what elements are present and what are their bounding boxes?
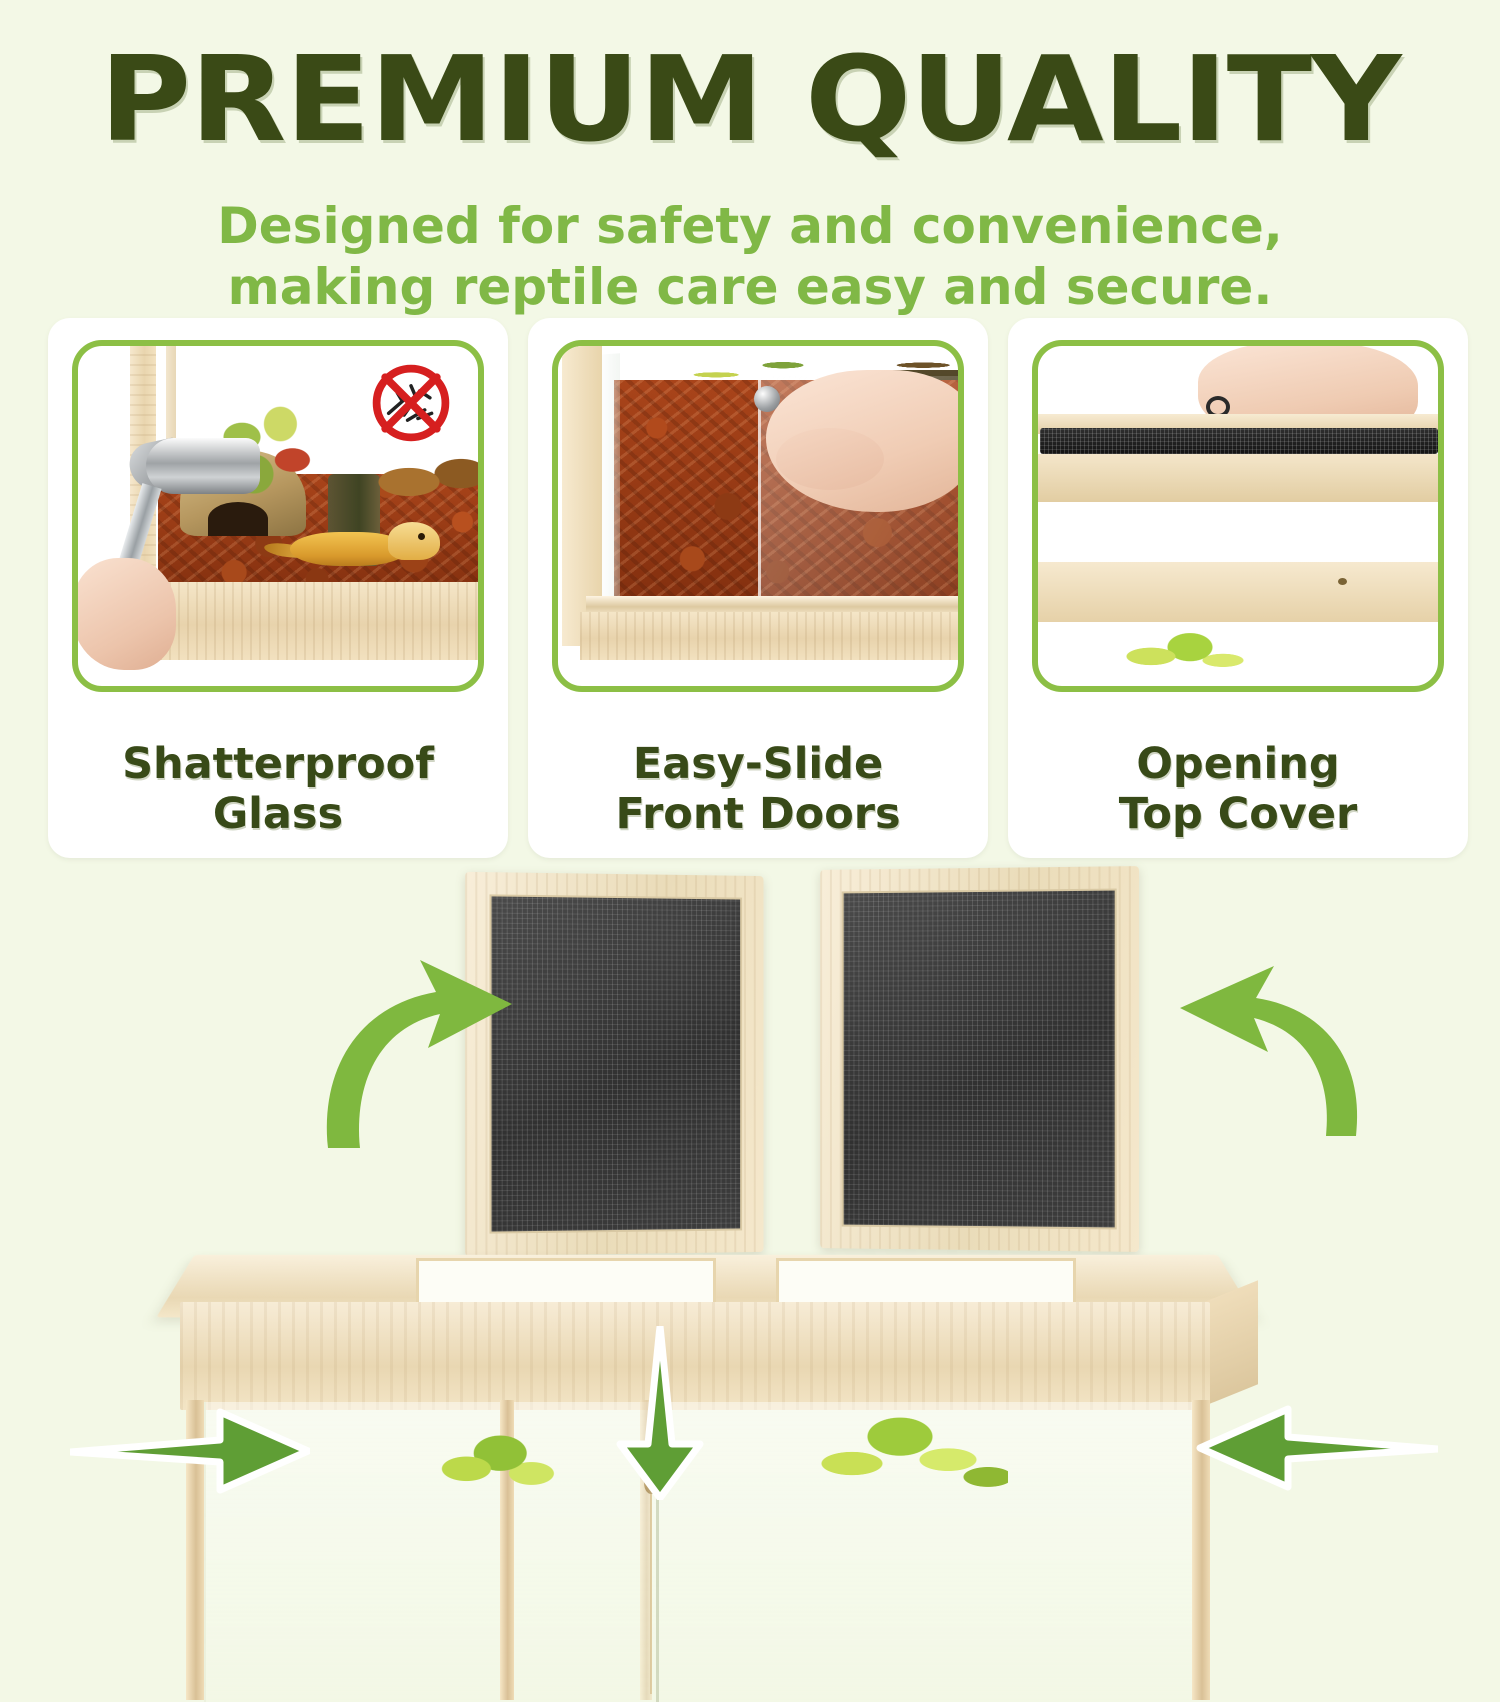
feature-photo-easy-slide-doors (558, 346, 958, 686)
feature-card-easy-slide-front-doors[interactable]: Easy-Slide Front Doors (528, 318, 988, 858)
arrow-right-side (1192, 1404, 1438, 1492)
feature-caption-2-line-2: Front Doors (528, 789, 988, 840)
page-headline: PREMIUM QUALITY (0, 40, 1500, 158)
feature-caption-1: Shatterproof Glass (48, 739, 508, 840)
screw-head (1338, 578, 1347, 585)
arrow-curved-right (1118, 960, 1368, 1140)
decor-plant-bottom-right (808, 1404, 1008, 1500)
feature-caption-1-line-1: Shatterproof (48, 739, 508, 790)
feature-card-shatterproof-glass[interactable]: Shatterproof Glass (48, 318, 508, 858)
mesh-top-cover[interactable] (1040, 428, 1438, 454)
feature-caption-3: Opening Top Cover (1008, 739, 1468, 840)
feature-caption-3-line-2: Top Cover (1008, 789, 1468, 840)
decor-branch (370, 440, 478, 524)
bearded-dragon (264, 518, 444, 582)
left-lid-opening (416, 1258, 716, 1308)
arrow-curved-left (316, 952, 546, 1152)
page-subtitle: Designed for safety and convenience, mak… (0, 196, 1500, 318)
dragon-eye (418, 533, 425, 540)
decor-plant (1112, 630, 1262, 686)
feature-caption-1-line-2: Glass (48, 789, 508, 840)
feature-photo-frame-1 (72, 340, 484, 692)
hammer-head (146, 438, 260, 494)
feature-photo-shatterproof-glass (78, 346, 478, 686)
decor-plant-bottom-left (430, 1422, 560, 1500)
feature-caption-2-line-1: Easy-Slide (528, 739, 988, 790)
subtitle-line-1: Designed for safety and convenience, (0, 196, 1500, 257)
lower-wood-rail (1038, 562, 1438, 622)
feature-caption-3-line-1: Opening (1008, 739, 1468, 790)
door-knob[interactable] (754, 386, 780, 412)
right-mesh-lid[interactable] (820, 866, 1139, 1252)
dragon-head (388, 522, 440, 560)
feature-card-row: Shatterproof Glass Easy-Slide Front Door… (48, 318, 1468, 858)
feature-photo-opening-top-cover (1038, 346, 1438, 686)
upper-wood-rail (1038, 454, 1438, 502)
feature-card-opening-top-cover[interactable]: Opening Top Cover (1008, 318, 1468, 858)
enclosure-base-rail (580, 612, 958, 660)
right-lid-mesh-panel (842, 889, 1117, 1230)
right-lid-opening (776, 1258, 1076, 1308)
feature-photo-frame-3 (1032, 340, 1444, 692)
arrow-left-side (70, 1408, 310, 1494)
feature-caption-2: Easy-Slide Front Doors (528, 739, 988, 840)
subtitle-line-2: making reptile care easy and secure. (0, 257, 1500, 318)
hand-holding-hammer (78, 558, 176, 670)
no-shatter-icon (368, 360, 454, 446)
feature-photo-frame-2 (552, 340, 964, 692)
arrow-center-down (614, 1326, 706, 1500)
